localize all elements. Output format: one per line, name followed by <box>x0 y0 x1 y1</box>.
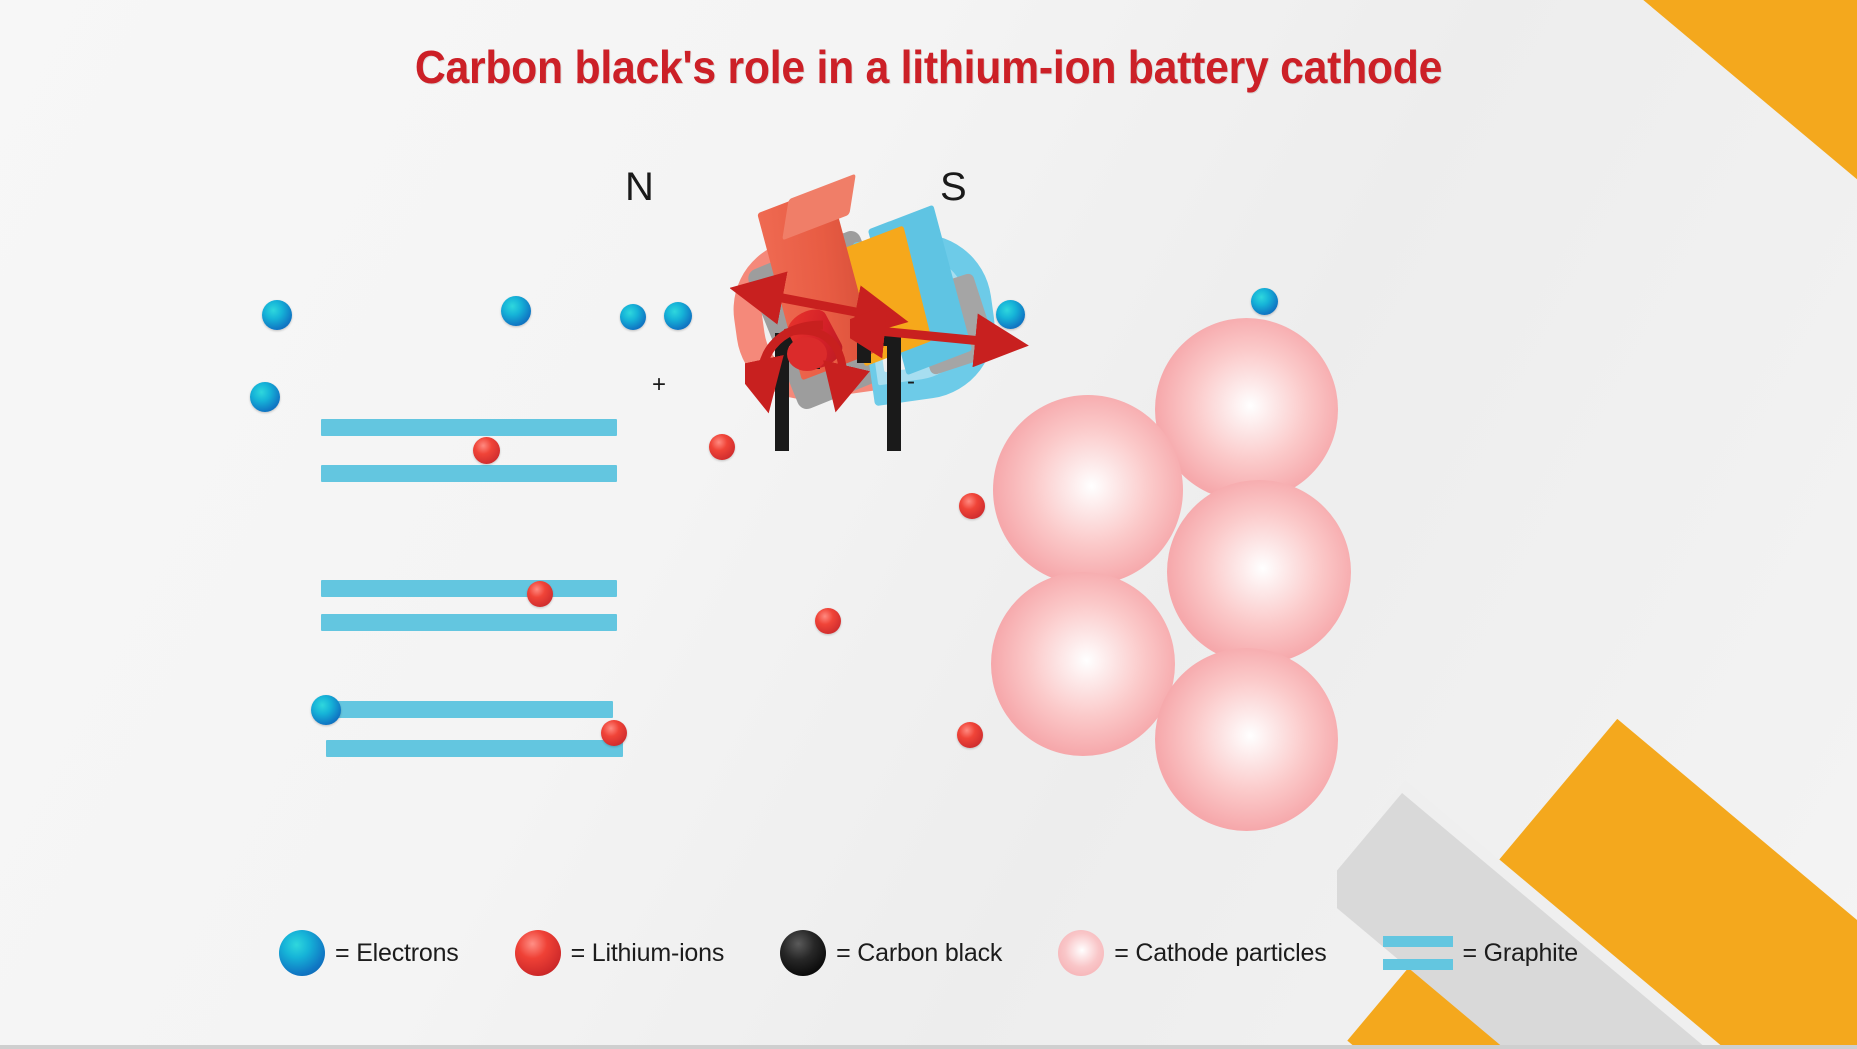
cathode-particle <box>1155 318 1338 501</box>
legend-item-graphite: = Graphite <box>1383 930 1578 976</box>
lithium-ion <box>959 493 985 519</box>
legend-label-carbon-black: = Carbon black <box>836 939 1002 968</box>
legend-item-carbon-black: = Carbon black <box>780 930 1002 976</box>
lithium-ion <box>709 434 735 460</box>
electron-sphere-icon <box>279 930 325 976</box>
graphite-layer-bar <box>321 419 617 436</box>
page-title: Carbon black's role in a lithium-ion bat… <box>65 40 1792 94</box>
north-pole-label: N <box>625 165 654 210</box>
legend-item-lithium-ions: = Lithium-ions <box>515 930 725 976</box>
south-pole-label: S <box>940 165 967 210</box>
electron <box>311 695 341 725</box>
electron <box>501 296 531 326</box>
cathode-particle <box>991 572 1175 756</box>
graphite-layer-bar <box>321 465 617 482</box>
negative-terminal-label: - <box>907 368 915 396</box>
electric-motor-assembly: N S + - <box>735 185 995 415</box>
lithium-ion <box>527 581 553 607</box>
lithium-ion <box>601 720 627 746</box>
electron <box>1251 288 1278 315</box>
torque-arrow-icon <box>850 307 1030 367</box>
graphite-layer-bar <box>316 701 613 718</box>
cathode-particle <box>1167 480 1351 664</box>
bottom-edge-line <box>0 1045 1857 1049</box>
graphite-layer-bar <box>321 580 617 597</box>
electron <box>664 302 692 330</box>
electron <box>250 382 280 412</box>
legend-item-electrons: = Electrons <box>279 930 459 976</box>
legend-label-cathode-particles: = Cathode particles <box>1114 939 1326 968</box>
electron <box>620 304 646 330</box>
legend-label-lithium-ions: = Lithium-ions <box>571 939 725 968</box>
legend-item-cathode-particles: = Cathode particles <box>1058 930 1326 976</box>
lithium-ion <box>815 608 841 634</box>
legend-label-graphite: = Graphite <box>1463 939 1578 968</box>
cathode-particle <box>1155 648 1338 831</box>
graphite-layer-bar <box>321 614 617 631</box>
graphite-layer-bar <box>326 740 623 757</box>
graphite-bars-icon <box>1383 930 1453 976</box>
lithium-ion-sphere-icon <box>515 930 561 976</box>
cathode-particle-sphere-icon <box>1058 930 1104 976</box>
cathode-particle <box>993 395 1183 585</box>
carbon-black-sphere-icon <box>780 930 826 976</box>
lithium-ion <box>957 722 983 748</box>
positive-terminal-label: + <box>652 371 666 399</box>
legend: = Electrons = Lithium-ions = Carbon blac… <box>0 930 1857 976</box>
electron <box>262 300 292 330</box>
legend-label-electrons: = Electrons <box>335 939 459 968</box>
lithium-ion <box>473 437 500 464</box>
bottom-right-corner-decoration <box>1337 719 1857 1049</box>
